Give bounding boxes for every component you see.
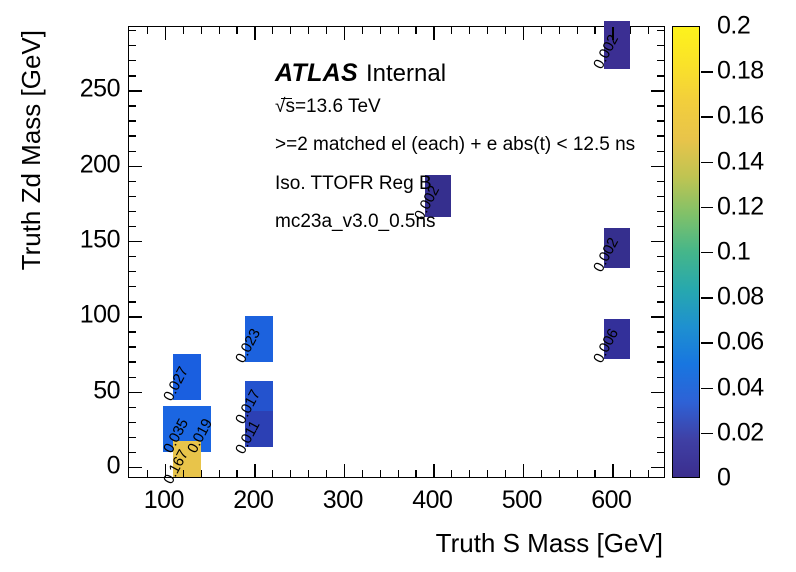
tick-mark xyxy=(451,470,452,477)
tick-mark xyxy=(541,27,542,34)
tick-mark xyxy=(433,27,434,40)
tick-mark xyxy=(129,377,136,378)
colorbar-tick-label: 0.04 xyxy=(717,373,764,402)
tick-mark xyxy=(651,392,664,393)
colorbar-tick-label: 0.1 xyxy=(717,238,750,267)
tick-mark xyxy=(657,301,664,302)
colorbar-tick xyxy=(701,388,713,389)
tick-mark xyxy=(559,27,560,34)
tick-mark xyxy=(326,470,327,477)
tick-mark xyxy=(469,27,470,34)
tick-mark xyxy=(398,27,399,34)
selection-label: >=2 matched el (each) + e abs(t) < 12.5 … xyxy=(275,135,695,174)
colorbar-tick xyxy=(701,252,713,253)
atlas-label: ATLASInternal xyxy=(275,61,695,97)
tick-mark xyxy=(469,470,470,477)
tick-mark xyxy=(129,181,136,182)
tick-mark xyxy=(657,452,664,453)
tick-mark xyxy=(651,241,664,242)
tick-mark xyxy=(129,316,142,317)
y-tick-label: 200 xyxy=(62,150,120,179)
tick-mark xyxy=(362,27,363,34)
tick-mark xyxy=(129,256,136,257)
tick-mark xyxy=(129,452,136,453)
tick-mark xyxy=(657,286,664,287)
tick-mark xyxy=(129,286,136,287)
tick-mark xyxy=(129,226,136,227)
tick-mark xyxy=(129,135,136,136)
tick-mark xyxy=(648,27,649,34)
tick-mark xyxy=(129,271,136,272)
tick-mark xyxy=(290,470,291,477)
tick-mark xyxy=(612,27,613,40)
tick-mark xyxy=(415,470,416,477)
y-tick-label: 150 xyxy=(62,225,120,254)
energy-value: =13.6 TeV xyxy=(295,96,381,117)
tick-mark xyxy=(577,27,578,34)
tick-mark xyxy=(657,361,664,362)
x-tick-label: 500 xyxy=(502,486,542,515)
tick-mark xyxy=(219,27,220,34)
tick-mark xyxy=(651,467,664,468)
colorbar-tick-label: 0.06 xyxy=(717,328,764,357)
energy-prefix: s xyxy=(285,96,295,117)
x-tick-label: 200 xyxy=(233,486,273,515)
tick-mark xyxy=(451,27,452,34)
tick-mark xyxy=(129,151,136,152)
colorbar xyxy=(672,26,700,478)
tick-mark xyxy=(129,437,136,438)
legend-block: ATLASInternal √s=13.6 TeV >=2 matched el… xyxy=(275,61,695,231)
tick-mark xyxy=(254,464,255,477)
y-tick-label: 250 xyxy=(62,75,120,104)
tick-mark xyxy=(657,346,664,347)
sqrt-icon: √s xyxy=(275,97,295,116)
tick-mark xyxy=(651,316,664,317)
tick-mark xyxy=(657,331,664,332)
tick-mark xyxy=(272,470,273,477)
colorbar-tick xyxy=(701,71,713,72)
colorbar-tick xyxy=(701,207,713,208)
tick-mark xyxy=(487,27,488,34)
tick-mark xyxy=(505,470,506,477)
colorbar-tick-label: 0.02 xyxy=(717,418,764,447)
tick-mark xyxy=(219,470,220,477)
tick-mark xyxy=(236,27,237,34)
tick-mark xyxy=(236,470,237,477)
sample-label: mc23a_v3.0_0.5ns xyxy=(275,212,695,231)
colorbar-tick-label: 0.16 xyxy=(717,102,764,131)
tick-mark xyxy=(380,27,381,34)
tick-mark xyxy=(201,27,202,34)
tick-mark xyxy=(129,241,142,242)
tick-mark xyxy=(523,464,524,477)
tick-mark xyxy=(129,75,136,76)
tick-mark xyxy=(326,27,327,34)
tick-mark xyxy=(129,211,136,212)
plot-frame: 0.0270.0350.0190.1670.0230.0170.0110.002… xyxy=(128,26,665,478)
tick-mark xyxy=(630,27,631,34)
tick-mark xyxy=(129,301,136,302)
tick-mark xyxy=(541,470,542,477)
tick-mark xyxy=(129,45,136,46)
tick-mark xyxy=(577,470,578,477)
colorbar-tick-label: 0.12 xyxy=(717,192,764,221)
tick-mark xyxy=(129,30,136,31)
y-tick-label: 50 xyxy=(62,376,120,405)
tick-mark xyxy=(129,331,136,332)
tick-mark xyxy=(344,27,345,40)
x-tick-label: 300 xyxy=(323,486,363,515)
tick-mark xyxy=(612,464,613,477)
tick-mark xyxy=(308,27,309,34)
tick-mark xyxy=(129,346,136,347)
tick-mark xyxy=(147,470,148,477)
tick-mark xyxy=(165,464,166,477)
colorbar-tick xyxy=(701,342,713,343)
tick-mark xyxy=(648,470,649,477)
tick-mark xyxy=(129,120,136,121)
y-tick-label: 0 xyxy=(62,451,120,480)
tick-mark xyxy=(147,27,148,34)
tick-mark xyxy=(594,470,595,477)
tick-mark xyxy=(183,27,184,34)
tick-mark xyxy=(657,437,664,438)
tick-mark xyxy=(657,45,664,46)
x-tick-label: 600 xyxy=(591,486,631,515)
tick-mark xyxy=(129,196,136,197)
tick-mark xyxy=(398,470,399,477)
tick-mark xyxy=(129,105,136,106)
tick-mark xyxy=(415,27,416,34)
tick-mark xyxy=(630,470,631,477)
tick-mark xyxy=(290,27,291,34)
tick-mark xyxy=(129,467,142,468)
tick-mark xyxy=(657,30,664,31)
colorbar-tick xyxy=(701,297,713,298)
tick-mark xyxy=(272,27,273,34)
x-tick-label: 100 xyxy=(144,486,184,515)
x-tick-label: 400 xyxy=(412,486,452,515)
tick-mark xyxy=(254,27,255,40)
atlas-text: ATLAS xyxy=(275,59,358,87)
tick-mark xyxy=(165,27,166,40)
tick-mark xyxy=(523,27,524,40)
energy-label: √s=13.6 TeV xyxy=(275,97,695,135)
tick-mark xyxy=(433,464,434,477)
colorbar-tick xyxy=(701,116,713,117)
x-axis-title: Truth S Mass [GeV] xyxy=(436,528,663,559)
atlas-status-text: Internal xyxy=(358,60,446,87)
colorbar-tick xyxy=(701,433,713,434)
tick-mark xyxy=(362,470,363,477)
tick-mark xyxy=(657,256,664,257)
colorbar-tick-label: 0.08 xyxy=(717,283,764,312)
tick-mark xyxy=(129,361,136,362)
tick-mark xyxy=(380,470,381,477)
tick-mark xyxy=(657,422,664,423)
tick-mark xyxy=(594,27,595,34)
tick-mark xyxy=(657,407,664,408)
colorbar-tick-label: 0.18 xyxy=(717,57,764,86)
tick-mark xyxy=(183,470,184,477)
colorbar-tick-label: 0.14 xyxy=(717,147,764,176)
tick-mark xyxy=(129,60,136,61)
colorbar-tick-label: 0 xyxy=(717,464,730,493)
y-tick-label: 100 xyxy=(62,301,120,330)
tick-mark xyxy=(657,271,664,272)
colorbar-tick-label: 0.2 xyxy=(717,12,750,41)
y-axis-title: Truth Zd Mass [GeV] xyxy=(16,30,47,270)
tick-mark xyxy=(505,27,506,34)
colorbar-tick xyxy=(701,162,713,163)
region-label: Iso. TTOFR Reg B xyxy=(275,174,695,212)
tick-mark xyxy=(559,470,560,477)
tick-mark xyxy=(129,422,136,423)
tick-mark xyxy=(487,470,488,477)
tick-mark xyxy=(129,407,136,408)
tick-mark xyxy=(657,377,664,378)
tick-mark xyxy=(129,392,142,393)
tick-mark xyxy=(308,470,309,477)
tick-mark xyxy=(129,166,142,167)
tick-mark xyxy=(344,464,345,477)
tick-mark xyxy=(201,470,202,477)
tick-mark xyxy=(129,90,142,91)
